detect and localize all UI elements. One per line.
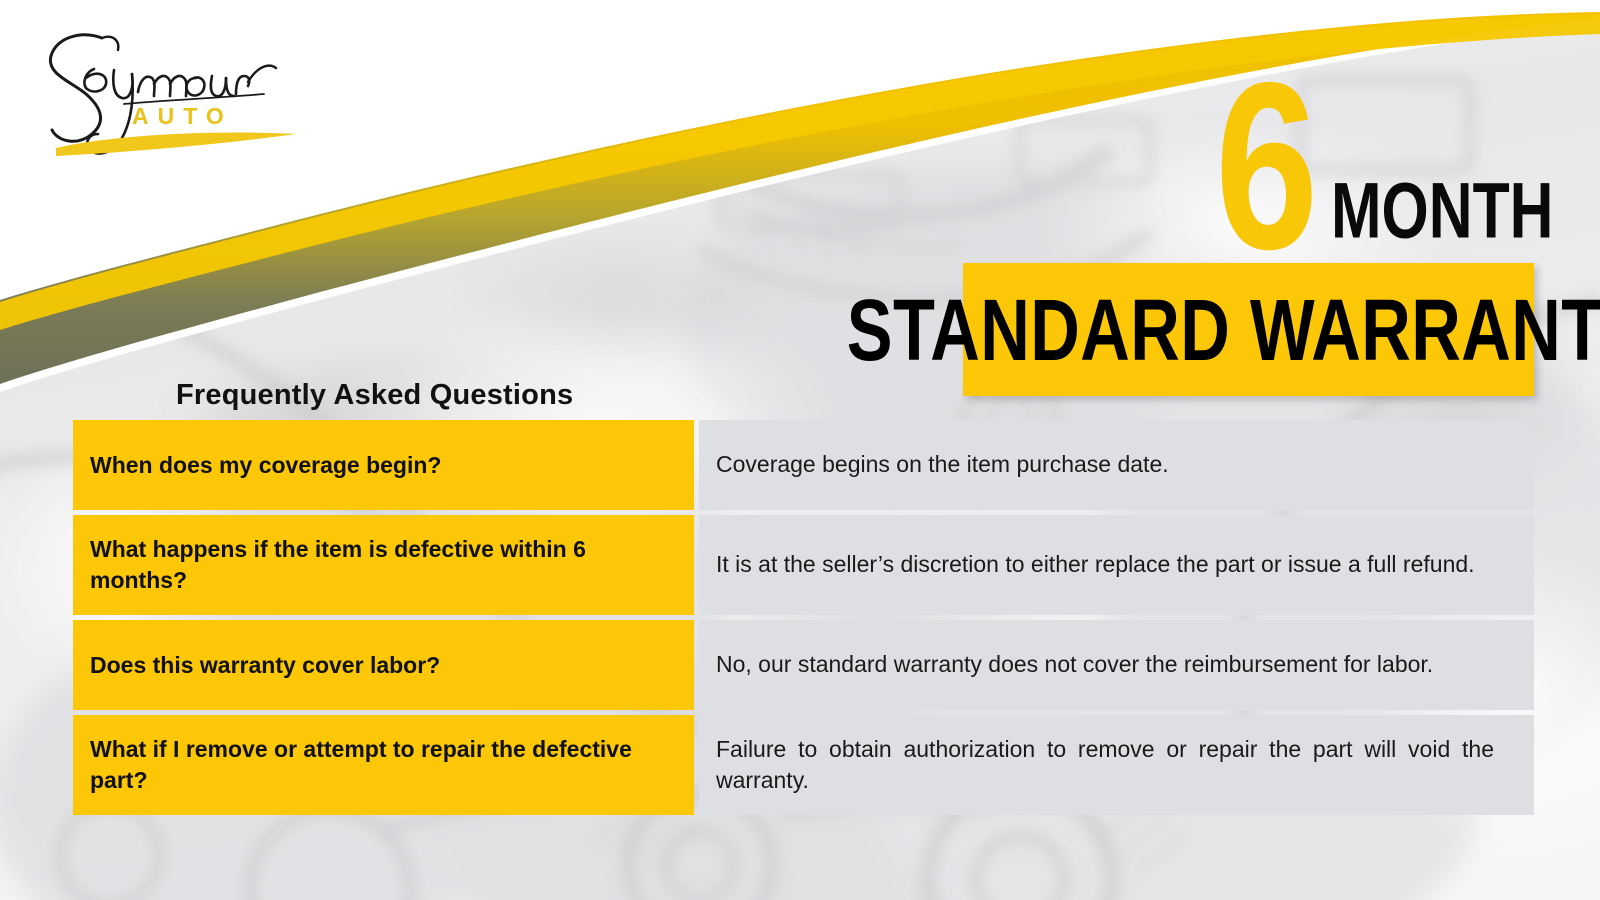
faq-question-cell: What if I remove or attempt to repair th… bbox=[73, 715, 694, 815]
table-row: Does this warranty cover labor? No, our … bbox=[73, 620, 1534, 710]
faq-answer-text: It is at the seller’s discretion to eith… bbox=[716, 549, 1494, 580]
standard-warranty-label: STANDARD WARRANTY bbox=[847, 286, 1600, 373]
faq-answer-text: Failure to obtain authorization to remov… bbox=[716, 734, 1494, 796]
faq-question-cell: When does my coverage begin? bbox=[73, 420, 694, 510]
svg-text:AUTO: AUTO bbox=[132, 103, 233, 129]
faq-table: When does my coverage begin? Coverage be… bbox=[73, 420, 1534, 815]
faq-answer-cell: Failure to obtain authorization to remov… bbox=[699, 715, 1534, 815]
faq-answer-cell: It is at the seller’s discretion to eith… bbox=[699, 515, 1534, 615]
table-row: What happens if the item is defective wi… bbox=[73, 515, 1534, 615]
faq-title: Frequently Asked Questions bbox=[176, 379, 573, 412]
duration-headline: 6 MONTH bbox=[1205, 70, 1535, 255]
faq-answer-text: No, our standard warranty does not cover… bbox=[716, 649, 1494, 680]
seymour-auto-logo: AUTO bbox=[28, 22, 328, 182]
table-row: When does my coverage begin? Coverage be… bbox=[73, 420, 1534, 510]
faq-question-cell: Does this warranty cover labor? bbox=[73, 620, 694, 710]
faq-answer-text: Coverage begins on the item purchase dat… bbox=[716, 449, 1494, 480]
faq-answer-cell: Coverage begins on the item purchase dat… bbox=[699, 420, 1534, 510]
duration-unit: MONTH bbox=[1331, 172, 1553, 250]
faq-answer-cell: No, our standard warranty does not cover… bbox=[699, 620, 1534, 710]
table-row: What if I remove or attempt to repair th… bbox=[73, 715, 1534, 815]
duration-number: 6 bbox=[1215, 48, 1314, 286]
standard-warranty-banner: STANDARD WARRANTY bbox=[963, 263, 1534, 396]
warranty-slide: AUTO 6 MONTH STANDARD WARRANTY Frequentl… bbox=[0, 0, 1600, 900]
faq-question-cell: What happens if the item is defective wi… bbox=[73, 515, 694, 615]
